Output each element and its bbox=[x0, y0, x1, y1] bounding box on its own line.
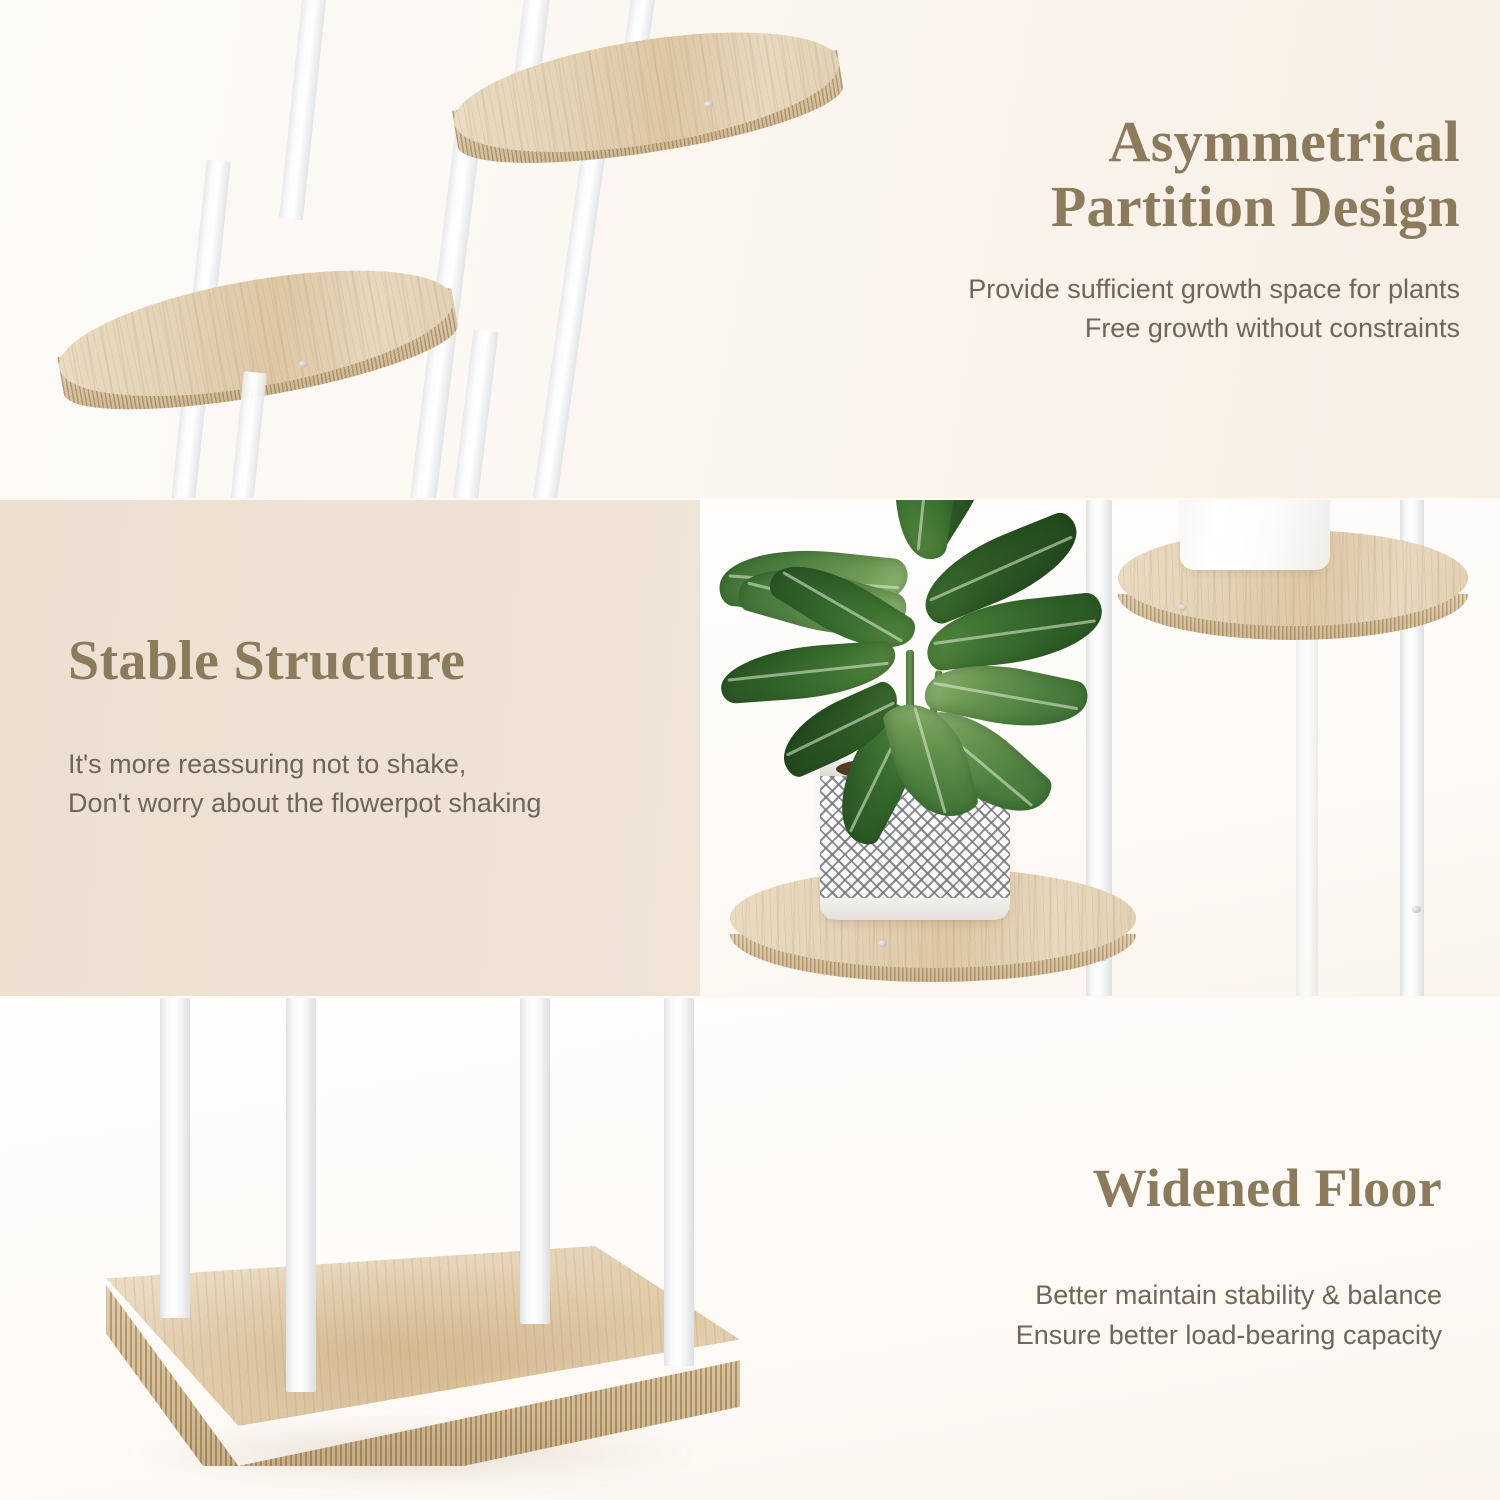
panel-3-text-block: Widened Floor Better maintain stability … bbox=[822, 1158, 1442, 1355]
panel-asymmetrical-partition-design: Asymmetrical Partition Design Provide su… bbox=[0, 0, 1500, 498]
panel-3-subline: Better maintain stability & balance Ensu… bbox=[822, 1276, 1442, 1354]
subline-line-2: Ensure better load-bearing capacity bbox=[822, 1316, 1442, 1355]
metal-leg bbox=[160, 1238, 190, 1318]
panel-2-text-block: Stable Structure It's more reassuring no… bbox=[68, 630, 688, 823]
headline-line-2: Partition Design bbox=[840, 175, 1460, 240]
headline-line-1: Asymmetrical bbox=[840, 110, 1460, 175]
panel-1-subline: Provide sufficient growth space for plan… bbox=[840, 270, 1460, 348]
panel-2-subline: It's more reassuring not to shake, Don't… bbox=[68, 745, 688, 823]
subline-line-2: Don't worry about the flowerpot shaking bbox=[68, 784, 688, 823]
metal-leg bbox=[520, 1244, 550, 1324]
wooden-shelf-upper bbox=[446, 10, 854, 217]
subline-line-2: Free growth without constraints bbox=[840, 309, 1460, 348]
panel-1-product-photo bbox=[0, 0, 880, 498]
metal-leg bbox=[286, 1222, 316, 1392]
panel-2-product-photo bbox=[700, 500, 1500, 996]
metal-leg bbox=[279, 0, 329, 221]
dieffenbachia-plant bbox=[700, 500, 1500, 996]
subline-line-1: Better maintain stability & balance bbox=[822, 1276, 1442, 1315]
product-feature-collage: Asymmetrical Partition Design Provide su… bbox=[0, 0, 1500, 1500]
headline-line-1: Stable Structure bbox=[68, 630, 688, 693]
panel-3-headline: Widened Floor bbox=[822, 1158, 1442, 1218]
metal-leg bbox=[664, 1238, 694, 1366]
panel-3-product-photo bbox=[0, 998, 820, 1500]
headline-line-1: Widened Floor bbox=[822, 1158, 1442, 1218]
subline-line-1: It's more reassuring not to shake, bbox=[68, 745, 688, 784]
panel-1-text-block: Asymmetrical Partition Design Provide su… bbox=[840, 110, 1460, 348]
panel-2-headline: Stable Structure bbox=[68, 630, 688, 693]
panel-1-headline: Asymmetrical Partition Design bbox=[840, 110, 1460, 240]
panel-widened-floor: Widened Floor Better maintain stability … bbox=[0, 998, 1500, 1500]
base-drop-shadow bbox=[120, 1418, 700, 1488]
panel-stable-structure: Stable Structure It's more reassuring no… bbox=[0, 500, 1500, 996]
subline-line-1: Provide sufficient growth space for plan… bbox=[840, 270, 1460, 309]
